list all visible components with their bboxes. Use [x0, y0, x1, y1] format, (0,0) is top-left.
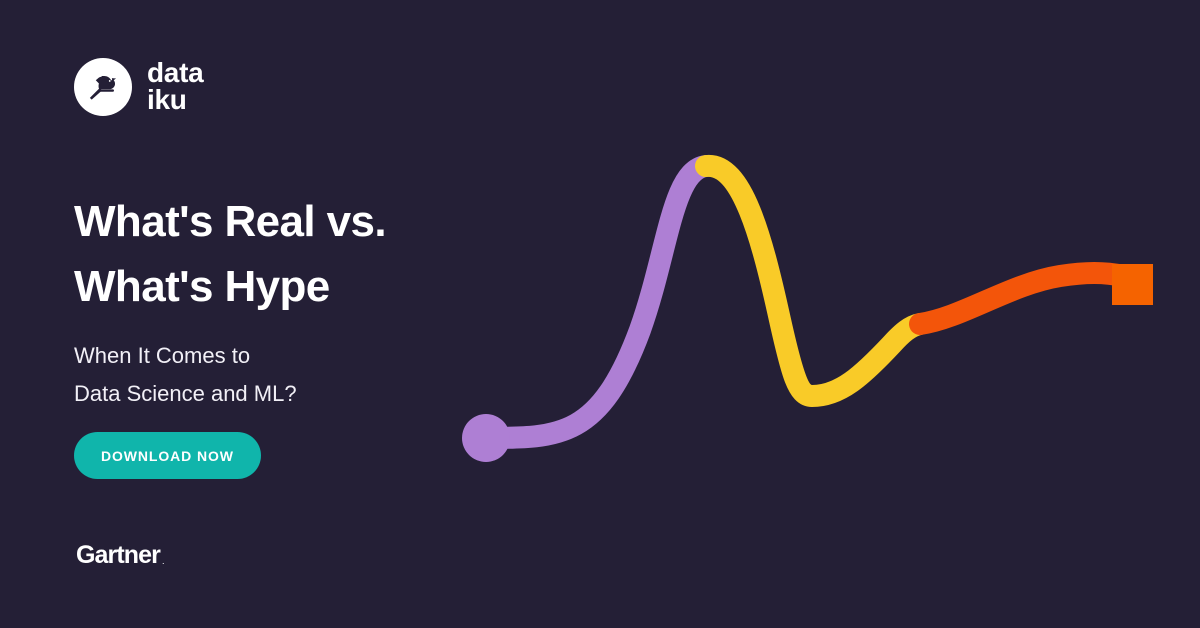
curve-segment-yellow-peak-to-trough: [706, 166, 920, 396]
curve-segment-orange-plateau: [920, 273, 1124, 324]
curve-start-marker: [462, 414, 510, 462]
download-now-button[interactable]: DOWNLOAD NOW: [74, 432, 261, 479]
promo-banner: data iku What's Real vs. What's Hype Whe…: [0, 0, 1200, 628]
dataiku-bird-icon: [74, 58, 132, 116]
gartner-wordmark: Gartner: [76, 543, 160, 568]
page-subtitle: When It Comes to Data Science and ML?: [74, 337, 594, 413]
curve-end-marker: [1112, 264, 1153, 305]
gartner-logo: Gartner .: [76, 543, 165, 568]
gartner-trademark-mark: .: [162, 557, 165, 568]
page-title: What's Real vs. What's Hype: [74, 189, 594, 319]
dataiku-logo[interactable]: data iku: [74, 58, 203, 116]
dataiku-wordmark: data iku: [147, 60, 203, 113]
